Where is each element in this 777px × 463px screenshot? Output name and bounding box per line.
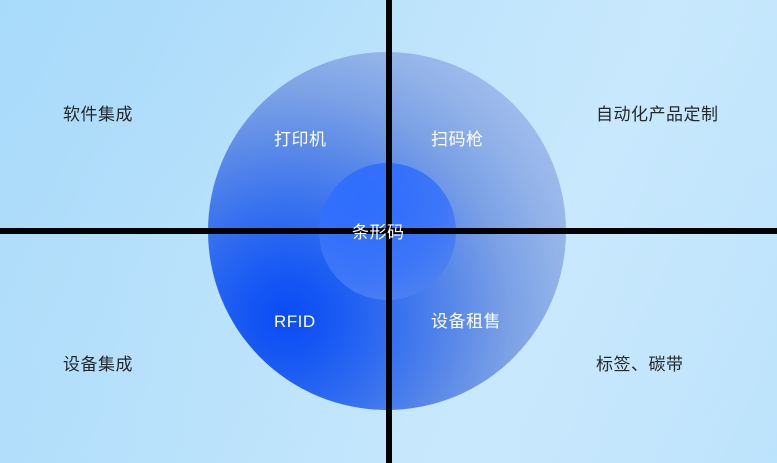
ring-label-equipment-rental: 设备租售 xyxy=(431,313,501,330)
ring-label-scanner: 扫码枪 xyxy=(431,131,484,148)
outer-label-software-integration: 软件集成 xyxy=(63,106,133,123)
capability-circle-diagram: 软件集成 自动化产品定制 设备集成 标签、碳带 打印机 扫码枪 RFID 设备租… xyxy=(0,0,777,463)
outer-label-equipment-integration: 设备集成 xyxy=(63,356,133,373)
outer-label-labels-ribbons: 标签、碳带 xyxy=(596,356,684,373)
core-label-barcode: 条形码 xyxy=(352,224,405,241)
outer-label-automation-customization: 自动化产品定制 xyxy=(596,106,719,123)
ring-label-printer: 打印机 xyxy=(274,131,327,148)
ring-label-rfid: RFID xyxy=(274,313,316,330)
